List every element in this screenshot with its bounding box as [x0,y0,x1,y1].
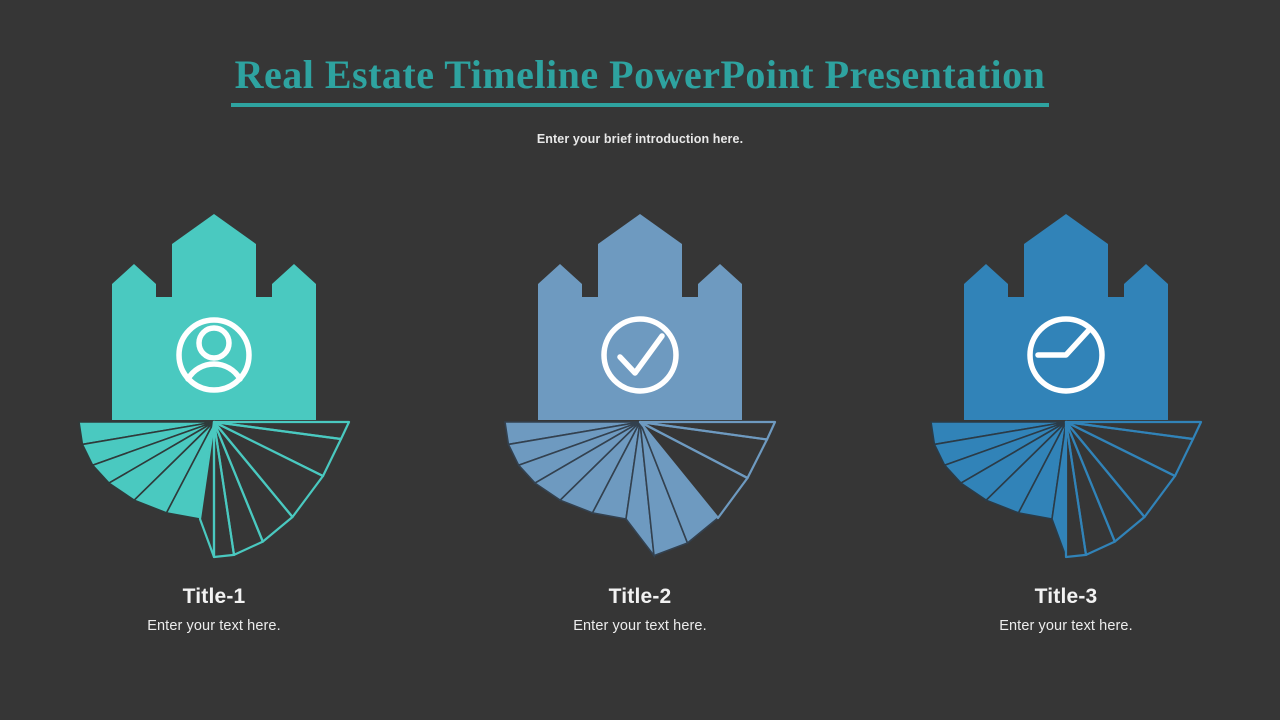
fan-filled-wedges-3 [931,422,1066,557]
columns-container: Title-1 Enter your text here. [0,212,1280,672]
column-3[interactable]: Title-3 Enter your text here. [853,212,1279,634]
column-2[interactable]: Title-2 Enter your text here. [427,212,853,634]
slide-canvas: Real Estate Timeline PowerPoint Presenta… [0,0,1280,720]
fan-outlined-wedges-3 [1066,422,1201,557]
column-caption-1: Enter your text here. [147,618,280,634]
title-block: Real Estate Timeline PowerPoint Presenta… [0,52,1280,107]
fan-filled-wedges-1 [79,422,214,519]
column-title-2: Title-2 [609,585,672,609]
building-fan-graphic-3[interactable] [916,212,1216,567]
column-title-1: Title-1 [183,585,246,609]
column-caption-3: Enter your text here. [999,618,1132,634]
column-1[interactable]: Title-1 Enter your text here. [1,212,427,634]
column-caption-2: Enter your text here. [573,618,706,634]
page-title: Real Estate Timeline PowerPoint Presenta… [231,52,1050,107]
building-fan-graphic-1[interactable] [64,212,364,567]
slide-subtitle: Enter your brief introduction here. [0,132,1280,146]
building-fan-graphic-2[interactable] [490,212,790,567]
column-title-3: Title-3 [1035,585,1098,609]
fan-outlined-wedges-1 [200,422,349,557]
fan-filled-wedges-2 [505,422,718,556]
